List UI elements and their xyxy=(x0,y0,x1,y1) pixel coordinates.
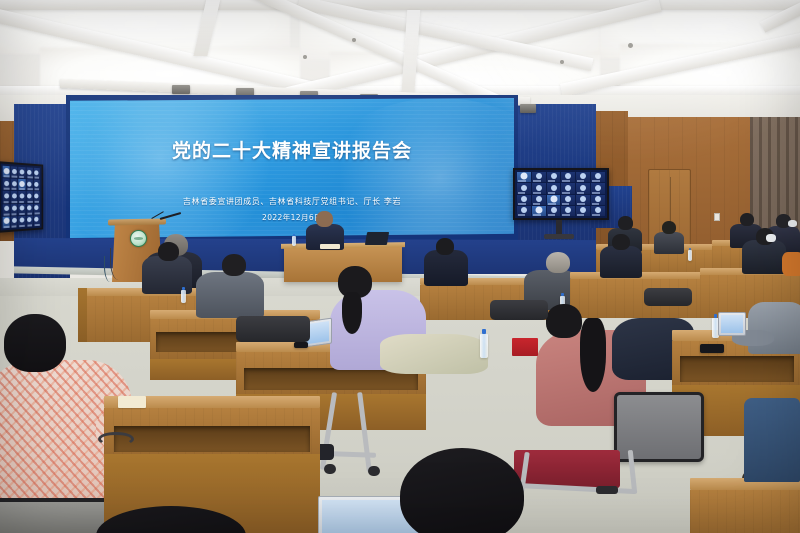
conference-hall-photo: 党的二十大精神宣讲报告会 吉林省委宣讲团成员、吉林省科技厅党组书记、厅长 李岩 … xyxy=(0,0,800,533)
desk xyxy=(690,478,800,533)
left-video-conference-monitor xyxy=(0,161,43,233)
water-bottle xyxy=(480,334,488,358)
stage-spotlight xyxy=(520,104,536,113)
attendee-phone xyxy=(294,342,308,348)
podium-emblem xyxy=(130,230,147,247)
draped-coat xyxy=(380,334,488,374)
notebook xyxy=(118,396,146,408)
water-bottle xyxy=(181,290,186,303)
office-chair-seat[interactable] xyxy=(514,450,620,488)
audience-member-legs xyxy=(744,398,800,482)
right-video-conference-monitor xyxy=(513,168,609,220)
red-booklet xyxy=(512,338,538,356)
foreground-attendee-head xyxy=(400,448,524,533)
presentation-screen: 党的二十大精神宣讲报告会 吉林省委宣讲团成员、吉林省科技厅党组书记、厅长 李岩 … xyxy=(70,98,514,238)
water-bottle xyxy=(688,250,692,261)
chair[interactable] xyxy=(490,300,548,320)
screen-title: 党的二十大精神宣讲报告会 xyxy=(70,136,514,163)
screen-subtitle: 吉林省委宣讲团成员、吉林省科技厅党组书记、厅长 李岩 xyxy=(70,196,514,207)
stage-spotlight xyxy=(172,85,190,94)
water-bottle xyxy=(292,236,296,246)
presenter-laptop xyxy=(365,232,389,245)
headphones xyxy=(98,432,134,446)
chair[interactable] xyxy=(236,316,310,342)
chair[interactable] xyxy=(644,288,692,306)
attendee-phone xyxy=(700,344,724,353)
attendee-tablet xyxy=(718,312,746,336)
